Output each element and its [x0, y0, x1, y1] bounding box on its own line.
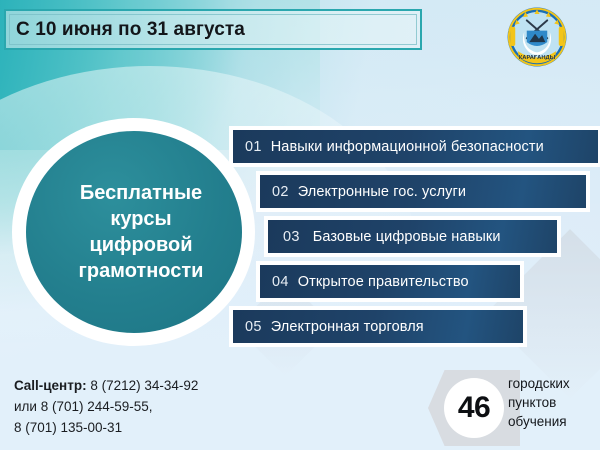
- training-points-caption: городских пунктов обучения: [508, 374, 598, 431]
- course-item-01-frame: 01 Навыки информационной безопасности: [229, 126, 600, 167]
- course-item-05-label: Электронная торговля: [271, 319, 424, 335]
- training-points-caption-line-2: пунктов: [508, 393, 598, 412]
- training-points-caption-line-3: обучения: [508, 412, 598, 431]
- training-points-number: 46: [458, 391, 490, 425]
- call-center-contacts: Call-центр: 8 (7212) 34-34-92 или 8 (701…: [14, 376, 198, 439]
- course-item-05[interactable]: 05 Электронная торговля: [233, 310, 523, 343]
- course-item-03-number: 03: [283, 229, 300, 245]
- contacts-line-1: Call-центр: 8 (7212) 34-34-92: [14, 376, 198, 397]
- course-item-04[interactable]: 04 Открытое правительство: [260, 265, 520, 298]
- course-item-03-frame: 03 Базовые цифровые навыки: [264, 216, 561, 257]
- contacts-phone-tertiary: 8 (701) 135-00-31: [14, 418, 198, 439]
- contacts-phone-primary: 8 (7212) 34-34-92: [87, 378, 199, 393]
- course-item-01-number: 01: [245, 139, 262, 155]
- course-item-04-frame: 04 Открытое правительство: [256, 261, 524, 302]
- course-item-01[interactable]: 01 Навыки информационной безопасности: [233, 130, 598, 163]
- course-item-05-number: 05: [245, 319, 262, 335]
- course-item-04-number: 04: [272, 274, 289, 290]
- poster-root: С 10 июня по 31 августа: [0, 0, 600, 450]
- course-item-05-frame: 05 Электронная торговля: [229, 306, 527, 347]
- course-item-02-number: 02: [272, 184, 289, 200]
- training-points-circle: 46: [444, 378, 504, 438]
- course-item-02[interactable]: 02 Электронные гос. услуги: [260, 175, 586, 208]
- course-item-03-label: Базовые цифровые навыки: [313, 229, 501, 245]
- course-item-03[interactable]: 03 Базовые цифровые навыки: [268, 220, 557, 253]
- course-item-04-label: Открытое правительство: [298, 274, 469, 290]
- course-item-02-label: Электронные гос. услуги: [298, 184, 466, 200]
- course-item-01-label: Навыки информационной безопасности: [271, 139, 544, 155]
- course-item-02-frame: 02 Электронные гос. услуги: [256, 171, 590, 212]
- contacts-phone-secondary: или 8 (701) 244-59-55,: [14, 397, 198, 418]
- contacts-label: Call-центр:: [14, 378, 87, 393]
- training-points-caption-line-1: городских: [508, 374, 598, 393]
